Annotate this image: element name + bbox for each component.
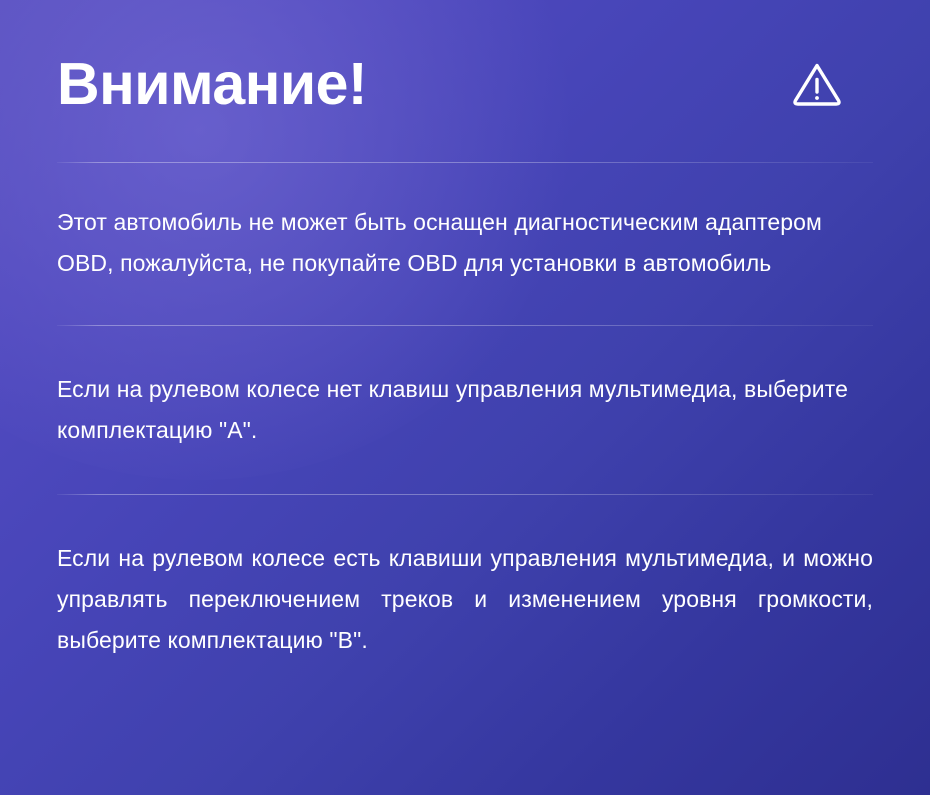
card-header: Внимание! — [57, 0, 873, 162]
notice-section-variant-a: Если на рулевом колесе нет клавиш управл… — [57, 326, 873, 494]
warning-triangle-icon — [791, 58, 843, 110]
card-content: Внимание! Этот автомобиль не может быть … — [0, 0, 930, 661]
notice-section-variant-b: Если на рулевом колесе есть клавиши упра… — [57, 495, 873, 661]
notice-text-obd: Этот автомобиль не может быть оснащен ди… — [57, 202, 873, 284]
notice-text-variant-a: Если на рулевом колесе нет клавиш управл… — [57, 369, 873, 451]
warning-notice-card: Внимание! Этот автомобиль не может быть … — [0, 0, 930, 795]
page-title: Внимание! — [57, 55, 367, 114]
notice-text-variant-b: Если на рулевом колесе есть клавиши упра… — [57, 538, 873, 661]
notice-section-obd: Этот автомобиль не может быть оснащен ди… — [57, 163, 873, 325]
